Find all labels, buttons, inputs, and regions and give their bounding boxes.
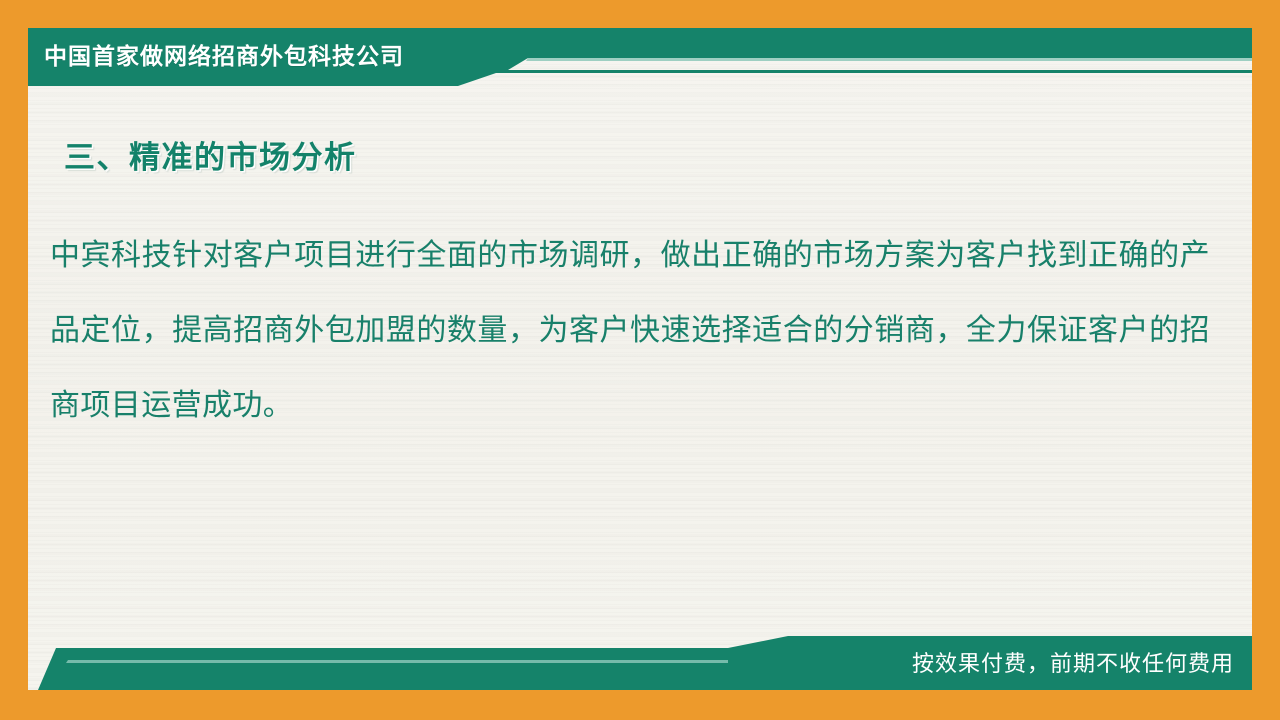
header-title: 中国首家做网络招商外包科技公司 xyxy=(44,33,404,75)
section-heading: 三、精准的市场分析 xyxy=(64,132,357,177)
body-paragraph-block: 中宾科技针对客户项目进行全面的市场调研，做出正确的市场方案为客户找到正确的产品定… xyxy=(50,218,1210,443)
header-banner-shape xyxy=(28,28,1252,86)
slide-content-area: 中国首家做网络招商外包科技公司 三、精准的市场分析 中宾科技针对客户项目进行全面… xyxy=(28,28,1252,690)
footer-banner: 按效果付费，前期不收任何费用 xyxy=(28,628,1252,690)
footer-band-hairline xyxy=(66,660,728,663)
footer-banner-shape xyxy=(28,628,1252,690)
header-band-hairline xyxy=(526,58,1252,61)
header-band-fill xyxy=(28,28,1252,86)
body-paragraph: 中宾科技针对客户项目进行全面的市场调研，做出正确的市场方案为客户找到正确的产品定… xyxy=(50,218,1210,443)
header-banner: 中国首家做网络招商外包科技公司 xyxy=(28,28,1252,86)
presentation-slide: 中国首家做网络招商外包科技公司 三、精准的市场分析 中宾科技针对客户项目进行全面… xyxy=(0,0,1280,720)
footer-band-fill xyxy=(38,636,1252,690)
footer-tagline: 按效果付费，前期不收任何费用 xyxy=(912,642,1234,682)
